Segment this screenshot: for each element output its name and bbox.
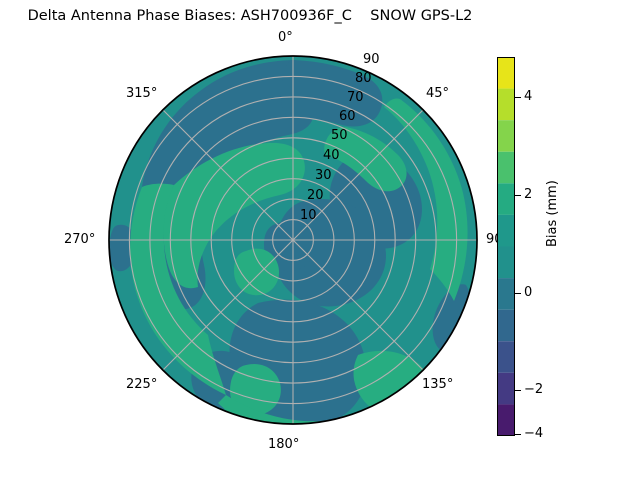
radial-tick-80: 80 xyxy=(355,72,372,86)
angle-tick-315: 315° xyxy=(126,87,157,101)
radial-tick-60: 60 xyxy=(339,110,356,124)
colorbar-tick-label-neg4: −4 xyxy=(524,427,543,440)
polar-plot-canvas xyxy=(108,55,478,425)
colorbar-tick-label-0: 0 xyxy=(524,286,532,299)
colorbar-gradient xyxy=(497,57,515,436)
colorbar-tick-mark-4 xyxy=(515,97,521,98)
colorbar-tick-label-4: 4 xyxy=(524,90,532,103)
colorbar-tick-mark-neg4 xyxy=(515,434,521,435)
angle-tick-225: 225° xyxy=(126,378,157,392)
angle-tick-270: 270° xyxy=(64,233,95,247)
radial-tick-50: 50 xyxy=(331,129,348,143)
radial-tick-10: 10 xyxy=(300,209,317,223)
colorbar-tick-label-neg2: −2 xyxy=(524,383,543,396)
colorbar-tick-mark-2 xyxy=(515,195,521,196)
radial-tick-70: 70 xyxy=(347,91,364,105)
colorbar-tick-label-2: 2 xyxy=(524,188,532,201)
angle-tick-45: 45° xyxy=(426,87,449,101)
colorbar xyxy=(497,57,515,436)
angle-tick-135: 135° xyxy=(422,378,453,392)
colorbar-axis-label: Bias (mm) xyxy=(545,180,560,247)
page-title: Delta Antenna Phase Biases: ASH700936F_C… xyxy=(0,6,500,26)
matplotlib-figure: Delta Antenna Phase Biases: ASH700936F_C… xyxy=(0,0,640,480)
colorbar-tick-mark-neg2 xyxy=(515,390,521,391)
radial-tick-30: 30 xyxy=(315,169,332,183)
radial-tick-40: 40 xyxy=(323,149,340,163)
polar-axes: 0° 45° 90 135° 180° 225° 270° 315° 10 20… xyxy=(108,55,478,425)
radial-tick-90: 90 xyxy=(363,53,380,67)
angular-gridlines xyxy=(109,56,477,424)
angle-tick-180: 180° xyxy=(268,438,299,452)
angle-tick-0: 0° xyxy=(278,31,293,45)
colorbar-tick-mark-0 xyxy=(515,293,521,294)
radial-tick-20: 20 xyxy=(307,189,324,203)
